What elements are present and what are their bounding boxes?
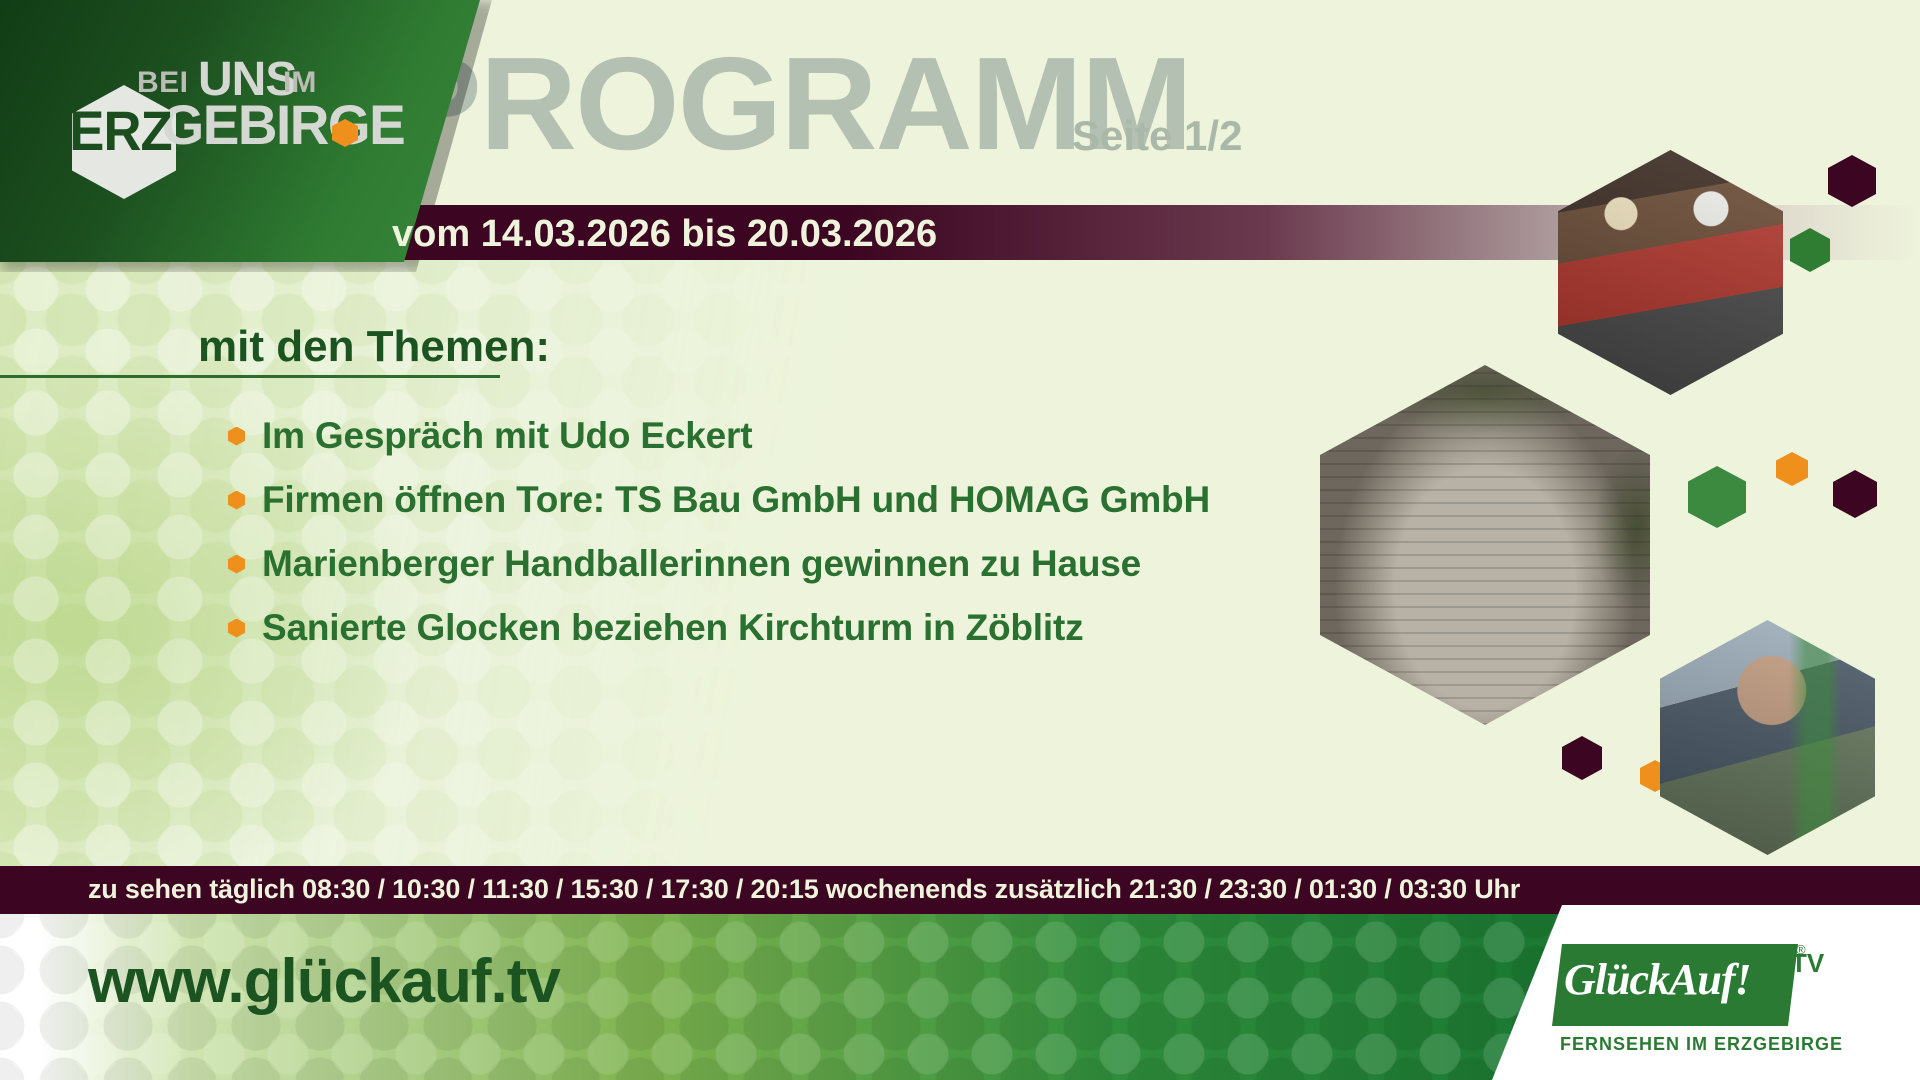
bullet-hexagon-icon [228, 555, 245, 574]
logo-tagline: FERNSEHEN IM ERZGEBIRGE [1560, 1034, 1843, 1055]
broadcast-times-label: zu sehen täglich 08:30 / 10:30 / 11:30 /… [88, 874, 1848, 905]
list-item-label: Sanierte Glocken beziehen Kirchturm in Z… [262, 607, 1083, 649]
decorative-hexagon-icon [1828, 155, 1876, 207]
miners-photo [1558, 150, 1783, 395]
topics-heading: mit den Themen: [198, 322, 550, 372]
logo-text-gebirge: GEBIRGE [161, 92, 404, 157]
bell-photo [1320, 365, 1650, 725]
bullet-hexagon-icon [228, 619, 245, 638]
list-item: Im Gespräch mit Udo Eckert [228, 408, 1228, 464]
interview-photo [1660, 620, 1875, 855]
decorative-hexagon-icon [1833, 470, 1877, 518]
page-indicator: Seite 1/2 [1072, 112, 1242, 160]
logo-text-erz: ERZ [69, 98, 171, 163]
program-poster: BEI UNS IM GEBIRGE ERZ PROGRAMM Seite 1/… [0, 0, 1920, 1080]
decorative-hexagon-icon [1776, 452, 1808, 486]
bullet-hexagon-icon [228, 427, 245, 446]
topics-list: Im Gespräch mit Udo Eckert Firmen öffnen… [228, 408, 1228, 664]
date-range-label: vom 14.03.2026 bis 20.03.2026 [392, 213, 937, 256]
list-item-label: Im Gespräch mit Udo Eckert [262, 415, 752, 457]
glueckauf-tv-logo: GlückAuf! ® TV FERNSEHEN IM ERZGEBIRGE [1538, 938, 1868, 1072]
list-item: Sanierte Glocken beziehen Kirchturm in Z… [228, 600, 1228, 656]
decorative-hexagon-icon [1562, 736, 1602, 780]
list-item-label: Marienberger Handballerinnen gewinnen zu… [262, 543, 1141, 585]
list-item-label: Firmen öffnen Tore: TS Bau GmbH und HOMA… [262, 479, 1210, 521]
topics-heading-underline [0, 375, 500, 378]
logo-wordmark: GlückAuf! [1564, 954, 1751, 1005]
list-item: Marienberger Handballerinnen gewinnen zu… [228, 536, 1228, 592]
decorative-hexagon-icon [1688, 466, 1746, 528]
logo-tv-label: TV [1791, 948, 1824, 979]
list-item: Firmen öffnen Tore: TS Bau GmbH und HOMA… [228, 472, 1228, 528]
website-url[interactable]: www.glückauf.tv [88, 946, 560, 1017]
bullet-hexagon-icon [228, 491, 245, 510]
